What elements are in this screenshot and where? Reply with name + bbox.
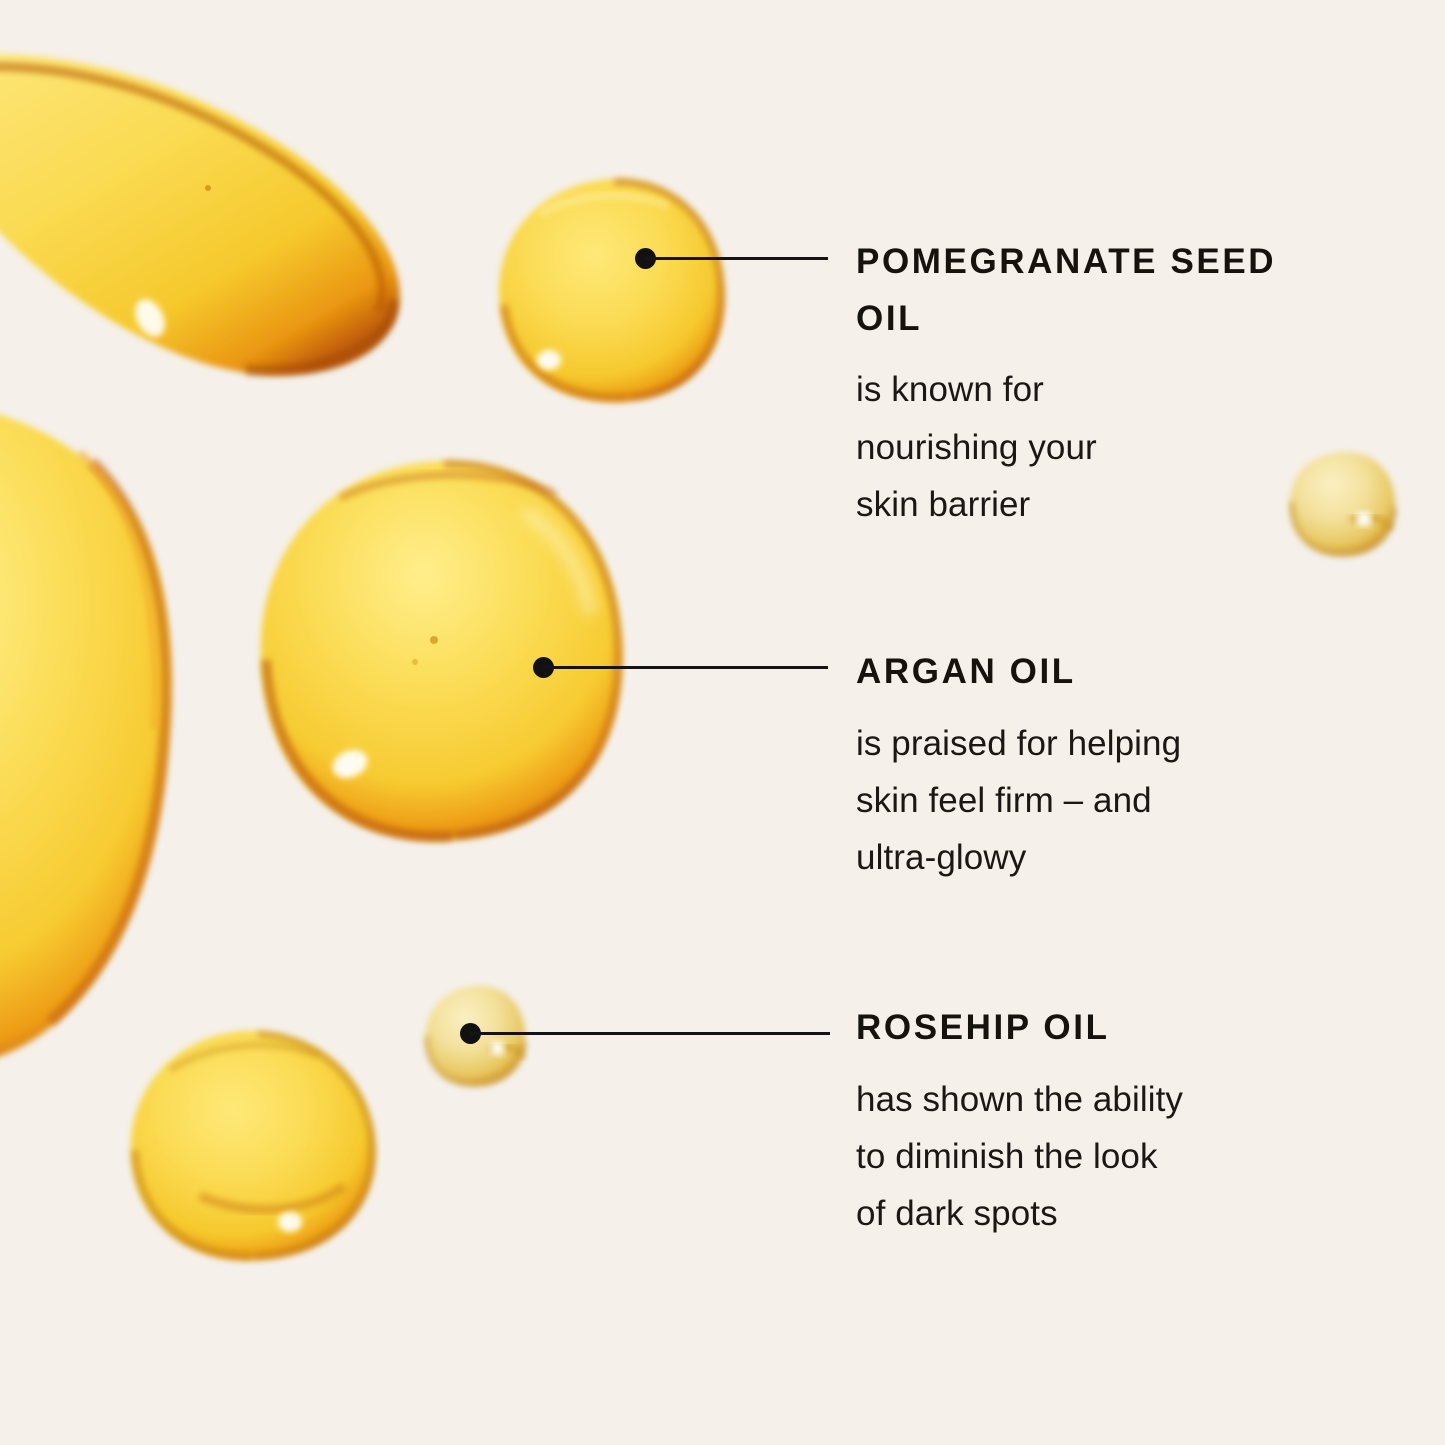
ingredient-description-argan-oil: is praised for helping skin feel firm – … bbox=[856, 715, 1326, 887]
ingredient-block-argan-oil: ARGAN OIL is praised for helping skin fe… bbox=[856, 644, 1326, 887]
ingredient-description-rosehip-oil: has shown the ability to diminish the lo… bbox=[856, 1071, 1326, 1243]
droplet-argan bbox=[261, 461, 622, 841]
ingredient-description-line: skin feel firm – and bbox=[856, 772, 1326, 829]
ingredient-title-rosehip-oil: ROSEHIP OIL bbox=[856, 1000, 1326, 1057]
droplet-bottom-left bbox=[131, 1031, 375, 1260]
ingredient-description-line: to diminish the look bbox=[856, 1128, 1326, 1185]
ingredient-description-line: is praised for helping bbox=[856, 715, 1326, 772]
ingredient-block-rosehip-oil: ROSEHIP OIL has shown the ability to dim… bbox=[856, 1000, 1326, 1243]
ingredient-title-argan-oil: ARGAN OIL bbox=[856, 644, 1326, 701]
ingredient-title-pomegranate-seed-oil: POMEGRANATE SEED OIL bbox=[856, 234, 1326, 347]
ingredient-description-line: skin barrier bbox=[856, 476, 1326, 533]
ingredient-block-pomegranate-seed-oil: POMEGRANATE SEED OIL is known for nouris… bbox=[856, 234, 1326, 534]
callout-line-pomegranate bbox=[645, 257, 828, 260]
ingredient-description-line: nourishing your bbox=[856, 419, 1326, 476]
droplet-large-left-edge bbox=[0, 401, 171, 1070]
ingredient-infographic: POMEGRANATE SEED OIL is known for nouris… bbox=[0, 0, 1445, 1445]
droplet-pomegranate bbox=[499, 179, 724, 402]
callout-line-argan bbox=[543, 666, 828, 669]
ingredient-description-line: of dark spots bbox=[856, 1185, 1326, 1242]
ingredient-description-line: ultra-glowy bbox=[856, 829, 1326, 886]
ingredient-description-pomegranate-seed-oil: is known for nourishing your skin barrie… bbox=[856, 361, 1326, 533]
ingredient-description-line: is known for bbox=[856, 361, 1326, 418]
ingredient-description-line: has shown the ability bbox=[856, 1071, 1326, 1128]
callout-line-rosehip bbox=[470, 1032, 830, 1035]
droplet-teardrop-top-left bbox=[0, 54, 400, 375]
